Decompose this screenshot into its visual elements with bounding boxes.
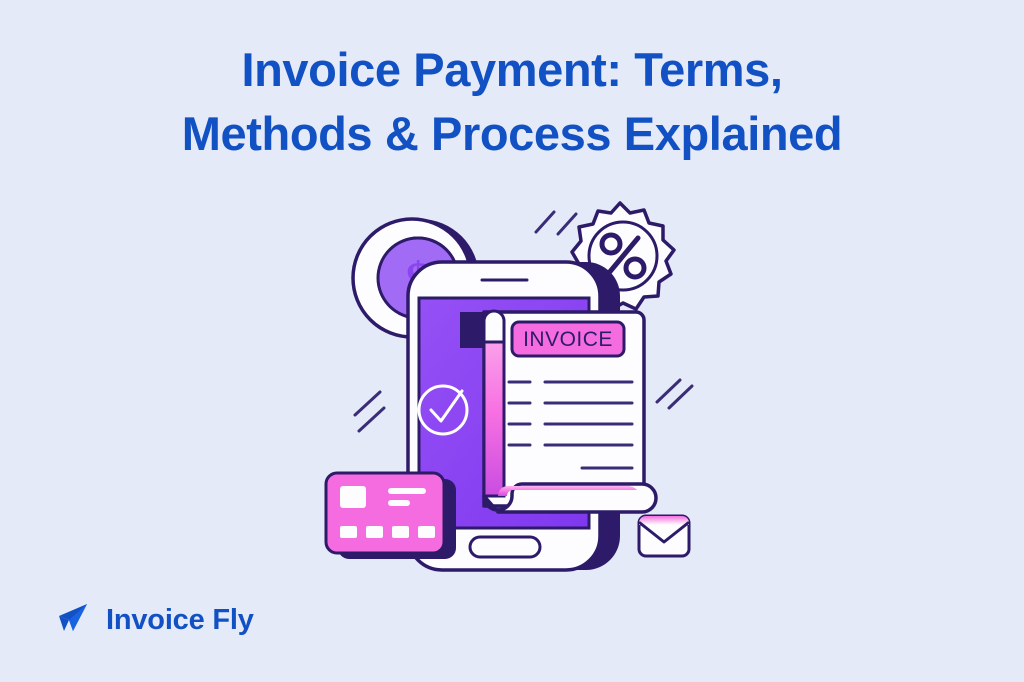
page-title: Invoice Payment: Terms, Methods & Proces…	[0, 38, 1024, 166]
paper-plane-icon	[52, 600, 92, 640]
invoice-payment-illustration: $	[312, 196, 712, 586]
motion-lines-right	[657, 380, 692, 408]
card-chip	[340, 486, 366, 508]
invoice-document: INVOICE	[460, 311, 656, 512]
credit-card	[326, 473, 456, 559]
invoice-badge-label: INVOICE	[523, 328, 613, 351]
brand-logo-text: Invoice Fly	[106, 606, 254, 635]
page-title-line-2: Methods & Process Explained	[0, 102, 1024, 166]
email-envelope	[639, 516, 689, 556]
motion-lines-left	[355, 392, 384, 431]
hero-banner: Invoice Payment: Terms, Methods & Proces…	[0, 0, 1024, 682]
page-title-line-1: Invoice Payment: Terms,	[0, 38, 1024, 102]
motion-lines-top	[536, 212, 576, 234]
brand-logo[interactable]: Invoice Fly	[52, 600, 254, 640]
